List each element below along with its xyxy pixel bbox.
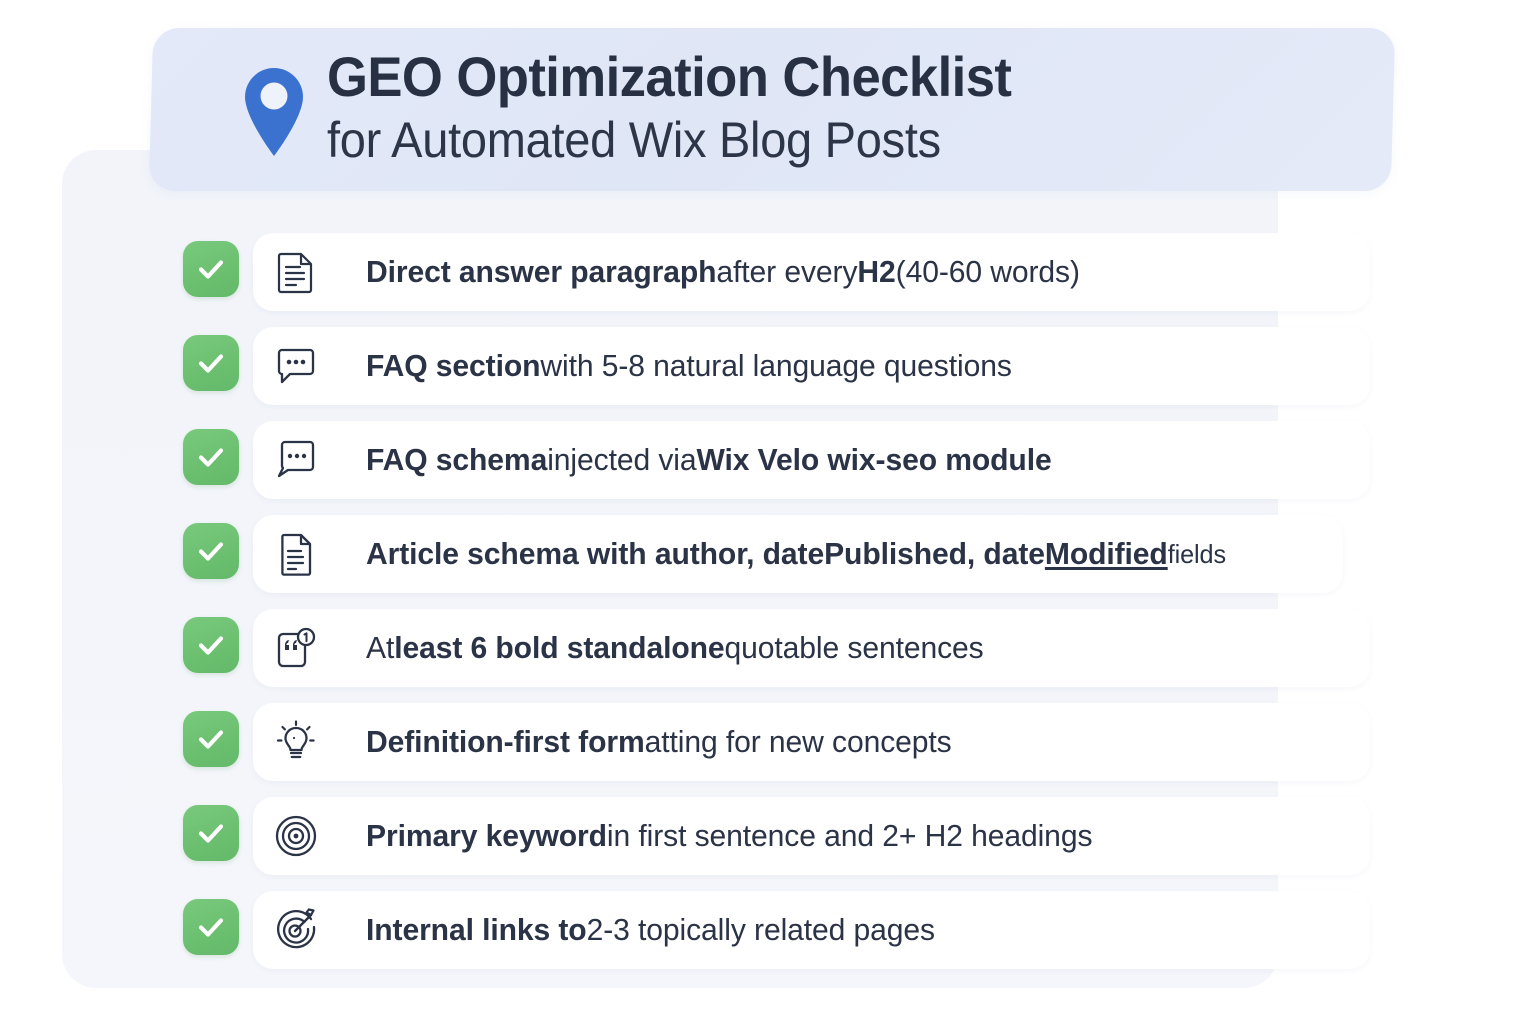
checklist-row[interactable]: FAQ schema injected via Wix Velo wix-seo… — [0, 421, 1536, 499]
check-icon — [194, 628, 228, 662]
row-label: FAQ schema injected via Wix Velo wix-seo… — [366, 421, 1052, 499]
speech-bubble-left-tail-icon — [272, 436, 320, 484]
quote-card-badge-icon — [272, 624, 320, 672]
target-arrow-icon — [272, 906, 320, 954]
row-label: At least 6 bold standalone quotable sent… — [366, 609, 984, 687]
map-pin-icon — [243, 66, 305, 158]
target-circles-icon — [272, 812, 320, 860]
title-block: GEO Optimization Checklist for Automated… — [327, 47, 1055, 169]
row-segment: Primary keyword — [366, 818, 607, 854]
row-segment: with 5-8 natural language questions — [540, 348, 1011, 384]
row-segment: Article schema with author, datePublishe… — [366, 536, 1045, 572]
checkbox-checked[interactable] — [183, 805, 239, 861]
row-label: Direct answer paragraph after every H2 (… — [366, 233, 1080, 311]
lightbulb-icon — [272, 718, 320, 766]
checklist-row[interactable]: Article schema with author, datePublishe… — [0, 515, 1536, 593]
header: GEO Optimization Checklist for Automated… — [151, 28, 1393, 191]
row-segment: in first sentence and 2+ H2 headings — [607, 818, 1092, 854]
checklist-rows: Direct answer paragraph after every H2 (… — [0, 233, 1536, 985]
checklist-row[interactable]: Direct answer paragraph after every H2 (… — [0, 233, 1536, 311]
check-icon — [194, 440, 228, 474]
speech-bubble-dots-icon — [272, 342, 320, 390]
row-segment: injected via — [547, 442, 696, 478]
checklist-row[interactable]: FAQ section with 5-8 natural language qu… — [0, 327, 1536, 405]
checkbox-checked[interactable] — [183, 899, 239, 955]
checklist-row[interactable]: Internal links to 2-3 topically related … — [0, 891, 1536, 969]
row-segment: H2 — [857, 254, 895, 290]
checkbox-checked[interactable] — [183, 711, 239, 767]
row-segment: 2-3 topically related pages — [587, 912, 935, 948]
row-label: Article schema with author, datePublishe… — [366, 515, 1226, 593]
check-icon — [194, 910, 228, 944]
checklist-row[interactable]: At least 6 bold standalone quotable sent… — [0, 609, 1536, 687]
row-label: Primary keyword in first sentence and 2+… — [366, 797, 1092, 875]
row-segment: after every — [716, 254, 857, 290]
row-segment: At — [366, 630, 394, 666]
check-icon — [194, 722, 228, 756]
check-icon — [194, 346, 228, 380]
row-segment: FAQ section — [366, 348, 540, 384]
row-label: FAQ section with 5-8 natural language qu… — [366, 327, 1012, 405]
row-segment: Wix Velo wix-seo module — [696, 442, 1051, 478]
row-segment: quotable sentences — [725, 630, 984, 666]
page-title: GEO Optimization Checklist — [327, 47, 1011, 106]
row-segment: Internal links to — [366, 912, 587, 948]
row-segment: atting for new concepts — [645, 724, 952, 760]
check-icon — [194, 816, 228, 850]
row-segment: FAQ schema — [366, 442, 547, 478]
checkbox-checked[interactable] — [183, 429, 239, 485]
row-segment: least 6 bold standalone — [394, 630, 724, 666]
row-label: Internal links to 2-3 topically related … — [366, 891, 935, 969]
document-lines-icon — [272, 248, 320, 296]
row-segment: fields — [1168, 539, 1226, 570]
page-stage: GEO Optimization Checklist for Automated… — [0, 0, 1536, 1024]
row-segment: (40-60 words) — [896, 254, 1080, 290]
document-page-icon — [272, 530, 320, 578]
row-segment: Direct answer paragraph — [366, 254, 716, 290]
checkbox-checked[interactable] — [183, 617, 239, 673]
row-label: Definition-first formatting for new conc… — [366, 703, 952, 781]
checkbox-checked[interactable] — [183, 335, 239, 391]
checklist-row[interactable]: Definition-first formatting for new conc… — [0, 703, 1536, 781]
page-subtitle: for Automated Wix Blog Posts — [327, 111, 1011, 170]
checklist-row[interactable]: Primary keyword in first sentence and 2+… — [0, 797, 1536, 875]
row-segment: Definition-first form — [366, 724, 645, 760]
check-icon — [194, 252, 228, 286]
check-icon — [194, 534, 228, 568]
row-segment: Modified — [1045, 536, 1168, 572]
checkbox-checked[interactable] — [183, 241, 239, 297]
checkbox-checked[interactable] — [183, 523, 239, 579]
